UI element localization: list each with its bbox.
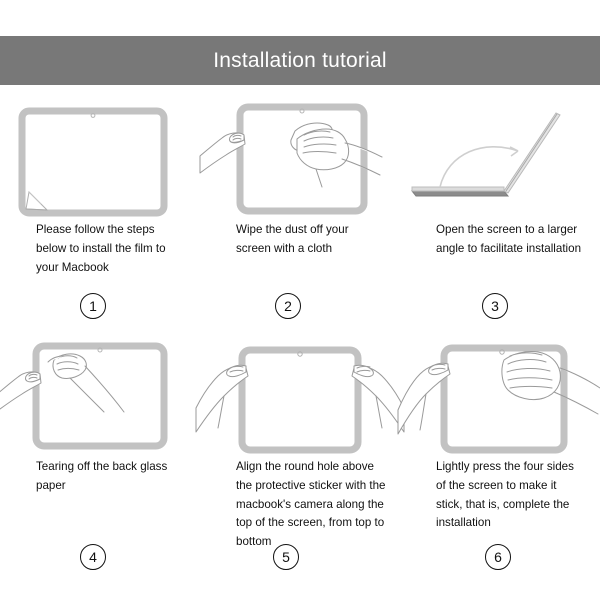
step-number-wrap-3: 3 xyxy=(400,293,600,319)
step-caption-3: Open the screen to a larger angle to fac… xyxy=(400,221,600,259)
step-caption-6: Lightly press the four sides of the scre… xyxy=(400,458,600,533)
step-caption-2: Wipe the dust off your screen with a clo… xyxy=(200,221,400,259)
illustration-step-5 xyxy=(200,332,400,450)
step-number-4: 4 xyxy=(80,544,106,570)
illustration-step-2 xyxy=(200,95,400,213)
step-panel-3: Open the screen to a larger angle to fac… xyxy=(400,95,600,332)
illustration-step-3 xyxy=(400,95,600,213)
step-panel-4: Tearing off the back glass paper 4 xyxy=(0,332,200,582)
illustration-step-6 xyxy=(400,332,600,450)
step-number-2: 2 xyxy=(275,293,301,319)
step-number-3: 3 xyxy=(482,293,508,319)
illustration-step-1 xyxy=(0,95,200,213)
step-number-5: 5 xyxy=(273,544,299,570)
header-bar: Installation tutorial xyxy=(0,36,600,85)
step-panel-5: Align the round hole above the protectiv… xyxy=(200,332,400,582)
step-panel-6: Lightly press the four sides of the scre… xyxy=(400,332,600,582)
step-panel-2: Wipe the dust off your screen with a clo… xyxy=(200,95,400,332)
illustration-step-4 xyxy=(0,332,200,450)
step-caption-5: Align the round hole above the protectiv… xyxy=(200,458,400,552)
page-title: Installation tutorial xyxy=(213,49,386,73)
step-caption-1: Please follow the steps below to install… xyxy=(0,221,200,277)
step-panel-1: Please follow the steps below to install… xyxy=(0,95,200,332)
step-number-1: 1 xyxy=(80,293,106,319)
step-caption-4: Tearing off the back glass paper xyxy=(0,458,200,496)
step-number-6: 6 xyxy=(485,544,511,570)
tutorial-page: Installation tutorial Please fo xyxy=(0,0,600,600)
step-number-wrap-6: 6 xyxy=(400,544,600,570)
steps-grid: Please follow the steps below to install… xyxy=(0,95,600,600)
